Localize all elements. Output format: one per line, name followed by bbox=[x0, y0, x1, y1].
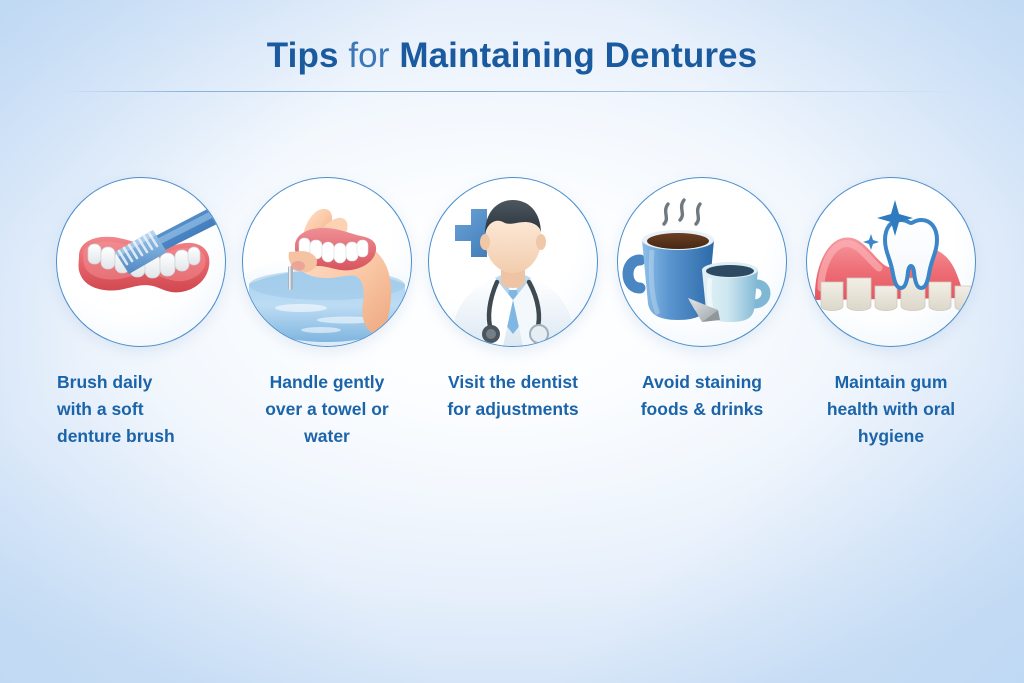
denture-toothbrush-icon bbox=[57, 178, 225, 346]
caption-line-3: water bbox=[238, 423, 416, 450]
caption-line-1: Visit the dentist bbox=[424, 369, 602, 396]
tip-card-gum-health[interactable]: Maintain gum health with oral hygiene bbox=[798, 177, 984, 450]
tip-card-brush-daily[interactable]: Brush daily with a soft denture brush bbox=[48, 177, 234, 450]
caption-line-2: foods & drinks bbox=[613, 396, 791, 423]
infographic-poster: Tips for Maintaining Dentures bbox=[0, 0, 1024, 683]
tip-icon-circle bbox=[806, 177, 976, 347]
hand-holding-denture-over-water-icon bbox=[243, 178, 411, 346]
title-part-1: Tips bbox=[267, 36, 339, 75]
title-part-3: Maintaining Dentures bbox=[399, 36, 757, 75]
tip-card-visit-dentist[interactable]: Visit the dentist for adjustments bbox=[420, 177, 606, 423]
tip-icon-circle bbox=[56, 177, 226, 347]
tip-card-avoid-staining[interactable]: Avoid staining foods & drinks bbox=[609, 177, 795, 423]
gums-tooth-sparkle-icon bbox=[807, 178, 975, 346]
title-part-2: for bbox=[348, 36, 389, 75]
title-text: Tips for Maintaining Dentures bbox=[0, 34, 1024, 78]
page-title: Tips for Maintaining Dentures bbox=[0, 34, 1024, 78]
tip-caption: Visit the dentist for adjustments bbox=[420, 369, 606, 423]
tip-icon-circle bbox=[242, 177, 412, 347]
title-divider bbox=[62, 91, 962, 92]
caption-line-2: health with oral bbox=[802, 396, 980, 423]
tip-caption: Avoid staining foods & drinks bbox=[609, 369, 795, 423]
tip-caption: Brush daily with a soft denture brush bbox=[48, 369, 234, 450]
dentist-doctor-icon bbox=[429, 178, 597, 346]
tip-caption: Handle gently over a towel or water bbox=[234, 369, 420, 450]
caption-line-1: Brush daily bbox=[57, 369, 230, 396]
tip-card-handle-gently[interactable]: Handle gently over a towel or water bbox=[234, 177, 420, 450]
caption-line-2: for adjustments bbox=[424, 396, 602, 423]
caption-line-1: Avoid staining bbox=[613, 369, 791, 396]
caption-line-3: hygiene bbox=[802, 423, 980, 450]
tip-caption: Maintain gum health with oral hygiene bbox=[798, 369, 984, 450]
tip-icon-circle bbox=[428, 177, 598, 347]
caption-line-2: over a towel or bbox=[238, 396, 416, 423]
caption-line-1: Handle gently bbox=[238, 369, 416, 396]
caption-line-2: with a soft bbox=[57, 396, 230, 423]
tip-icon-circle bbox=[617, 177, 787, 347]
caption-line-1: Maintain gum bbox=[802, 369, 980, 396]
caption-line-3: denture brush bbox=[57, 423, 230, 450]
coffee-tea-cups-icon bbox=[618, 178, 786, 346]
